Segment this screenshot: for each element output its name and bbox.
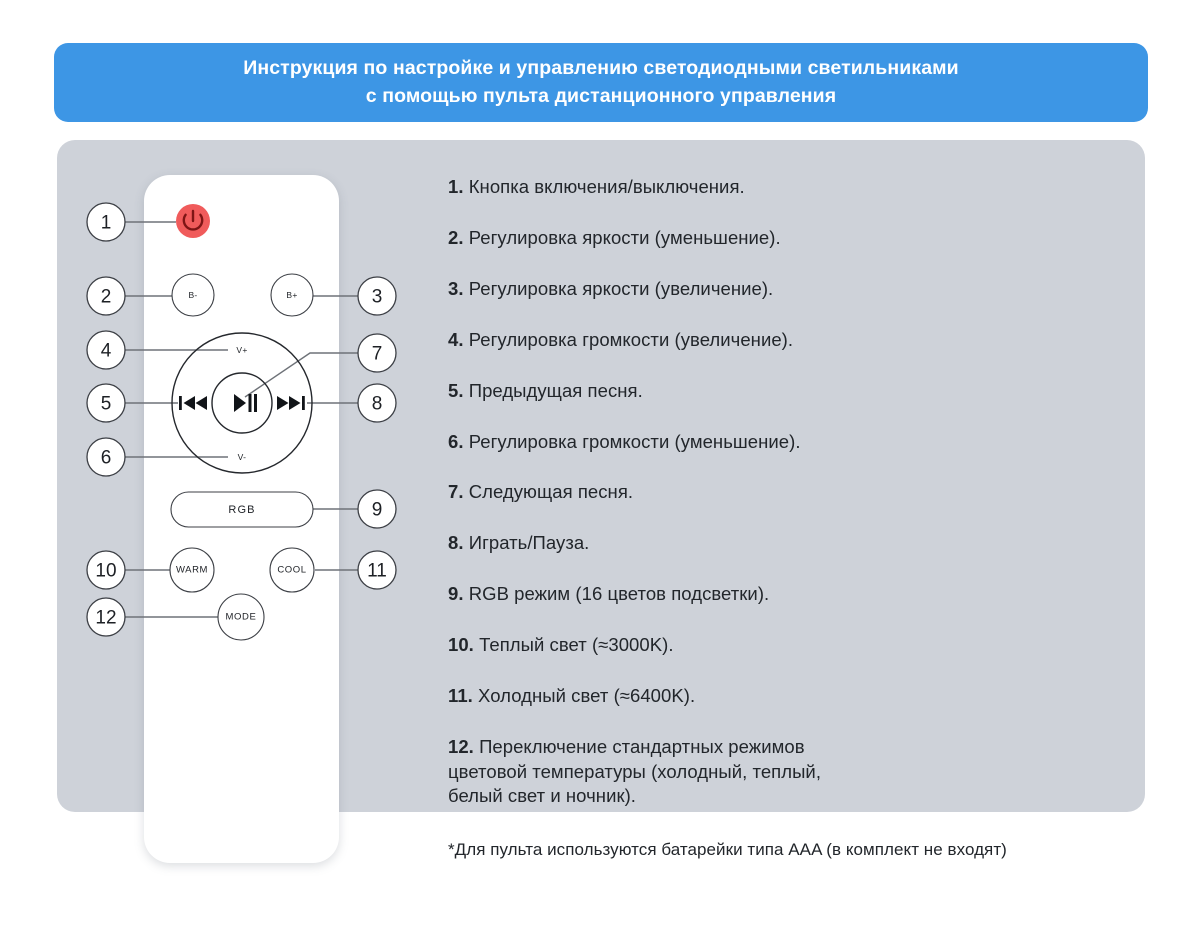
brightness-down-label: B- (188, 290, 197, 300)
callout-8[interactable]: 8 (358, 384, 396, 422)
callout-9-label: 9 (372, 500, 383, 521)
list-item: 7. Следующая песня. (448, 480, 1108, 504)
list-item: 4. Регулировка громкости (увеличение). (448, 328, 1108, 352)
rgb-label: RGB (228, 504, 255, 516)
callout-11-label: 11 (367, 561, 387, 582)
list-item: 10. Теплый свет (≈3000K). (448, 633, 1108, 657)
mode-label: MODE (226, 612, 257, 623)
cool-label: COOL (277, 565, 306, 576)
list-item-number: 12. (448, 736, 474, 757)
list-item-text: Предыдущая песня. (464, 380, 643, 401)
list-item: 1. Кнопка включения/выключения. (448, 175, 1108, 199)
callout-10[interactable]: 10 (87, 551, 125, 589)
callout-7[interactable]: 7 (358, 334, 396, 372)
list-item-number: 4. (448, 329, 464, 350)
callout-1[interactable]: 1 (87, 203, 125, 241)
list-item-number: 2. (448, 227, 464, 248)
callout-10-label: 10 (95, 561, 116, 582)
brightness-up-label: B+ (286, 290, 297, 300)
list-item-number: 8. (448, 532, 464, 553)
callout-6-label: 6 (101, 448, 112, 469)
warm-label: WARM (176, 565, 208, 576)
v-minus-label[interactable]: V- (238, 452, 247, 462)
callout-9[interactable]: 9 (358, 490, 396, 528)
callout-1-label: 1 (101, 213, 112, 234)
list-item-number: 5. (448, 380, 464, 401)
callout-4[interactable]: 4 (87, 331, 125, 369)
list-item: 8. Играть/Пауза. (448, 531, 1108, 555)
list-item-text: RGB режим (16 цветов подсветки). (464, 583, 770, 604)
list-item: 9. RGB режим (16 цветов подсветки). (448, 582, 1108, 606)
list-item-number: 11. (448, 685, 473, 706)
callout-6[interactable]: 6 (87, 438, 125, 476)
callout-5[interactable]: 5 (87, 384, 125, 422)
callout-3-label: 3 (372, 287, 383, 308)
page-title: Инструкция по настройке и управлению све… (243, 55, 959, 110)
list-item-text: Кнопка включения/выключения. (464, 176, 745, 197)
list-item-number: 9. (448, 583, 464, 604)
list-item-text: Регулировка яркости (уменьшение). (464, 227, 781, 248)
header-banner: Инструкция по настройке и управлению све… (54, 43, 1148, 122)
list-item-text: Регулировка громкости (уменьшение). (464, 431, 801, 452)
v-plus-label[interactable]: V+ (236, 345, 247, 355)
callout-7-label: 7 (372, 344, 383, 365)
callout-3[interactable]: 3 (358, 277, 396, 315)
list-item-text: Регулировка громкости (увеличение). (464, 329, 794, 350)
list-item-text: Следующая песня. (464, 481, 634, 502)
list-item-number: 1. (448, 176, 464, 197)
callout-2[interactable]: 2 (87, 277, 125, 315)
callout-12[interactable]: 12 (87, 598, 125, 636)
callout-5-label: 5 (101, 394, 112, 415)
callout-4-label: 4 (101, 341, 112, 362)
instruction-list: 1. Кнопка включения/выключения. 2. Регул… (448, 175, 1108, 809)
list-item: 11. Холодный свет (≈6400K). (448, 684, 1108, 708)
list-item-text: Регулировка яркости (увеличение). (464, 278, 774, 299)
list-item-text: Играть/Пауза. (464, 532, 590, 553)
list-item-number: 3. (448, 278, 464, 299)
list-item-text: Теплый свет (≈3000K). (474, 634, 674, 655)
callout-8-label: 8 (372, 394, 383, 415)
footnote: *Для пульта используются батарейки типа … (448, 840, 1148, 860)
list-item: 5. Предыдущая песня. (448, 379, 1108, 403)
callout-11[interactable]: 11 (358, 551, 396, 589)
list-item-text: Холодный свет (≈6400K). (473, 685, 695, 706)
list-item: 3. Регулировка яркости (увеличение). (448, 277, 1108, 301)
list-item-text: Переключение стандартных режимов цветово… (448, 736, 821, 806)
callout-2-label: 2 (101, 287, 112, 308)
list-item-number: 6. (448, 431, 464, 452)
list-item-number: 7. (448, 481, 464, 502)
list-item: 12. Переключение стандартных режимов цве… (448, 735, 1108, 809)
list-item: 2. Регулировка яркости (уменьшение). (448, 226, 1108, 250)
list-item-number: 10. (448, 634, 474, 655)
list-item: 6. Регулировка громкости (уменьшение). (448, 430, 1108, 454)
callout-12-label: 12 (95, 608, 116, 629)
